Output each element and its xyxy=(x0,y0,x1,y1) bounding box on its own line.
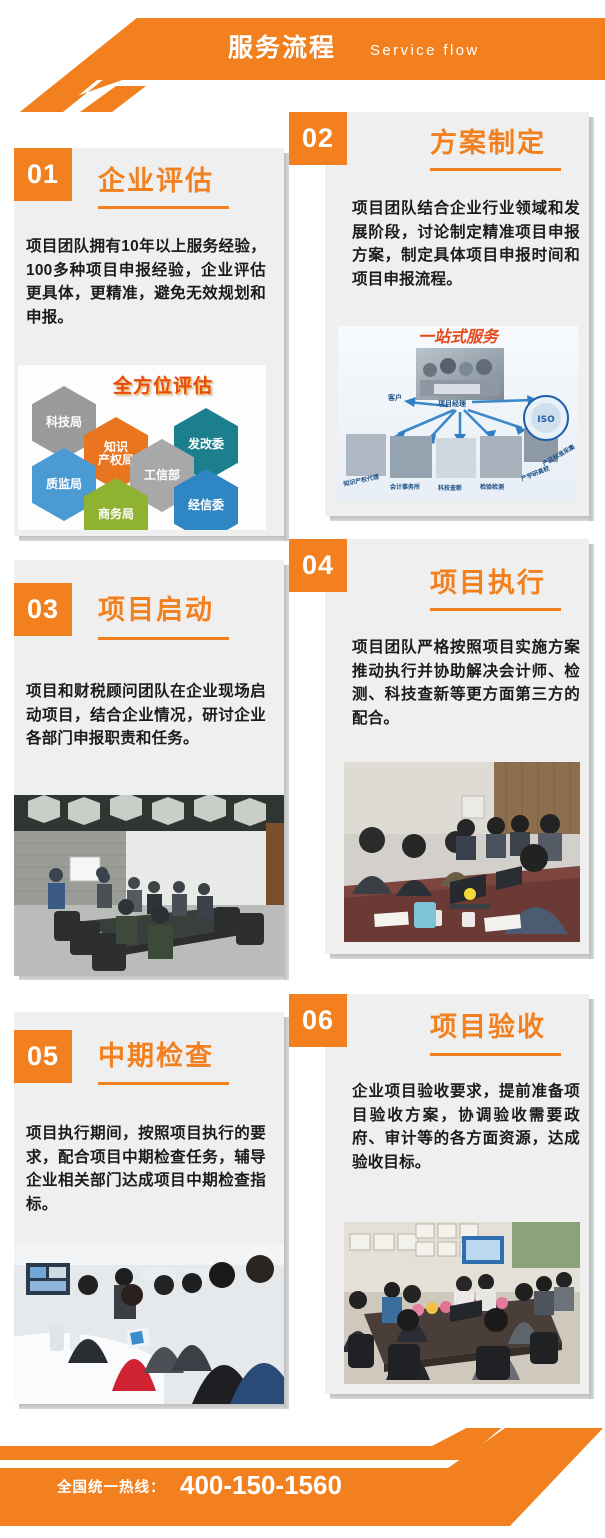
meeting-room-photo-03 xyxy=(14,795,284,976)
hotline-number: 400-150-1560 xyxy=(180,1472,342,1498)
team-working-photo-04 xyxy=(344,762,580,942)
step-title-rule-02 xyxy=(430,168,561,171)
step-number-badge-05: 05 xyxy=(14,1030,72,1083)
header-banner: 服务流程 Service flow xyxy=(0,0,605,110)
svg-text:检验检测: 检验检测 xyxy=(480,483,504,491)
media-photo-03 xyxy=(14,795,284,976)
step-title-rule-01 xyxy=(98,206,229,209)
svg-text:会计事务所: 会计事务所 xyxy=(390,483,420,491)
step-number-badge-01: 01 xyxy=(14,148,72,201)
one-stop-service-title: 一站式服务 xyxy=(418,327,500,346)
step-title-rule-05 xyxy=(98,1082,229,1085)
step-body-03: 项目和财税顾问团队在企业现场启动项目，结合企业情况，研讨企业各部门申报职责和任务… xyxy=(26,680,266,751)
step-title-02: 方案制定 xyxy=(430,130,546,157)
step-title-rule-06 xyxy=(430,1053,561,1056)
step-number-badge-02: 02 xyxy=(289,112,347,165)
step-body-05: 项目执行期间，按照项目执行的要求，配合项目中期检查任务，辅导企业相关部门达成项目… xyxy=(26,1122,266,1216)
media-photo-05 xyxy=(14,1245,284,1404)
svg-text:ISO: ISO xyxy=(537,415,555,425)
svg-text:科技查新: 科技查新 xyxy=(438,484,462,492)
step-number-badge-06: 06 xyxy=(289,994,347,1047)
header-title: 服务流程 xyxy=(228,36,336,61)
step-title-04: 项目执行 xyxy=(430,570,546,597)
step-title-rule-03 xyxy=(98,637,229,640)
step-body-01: 项目团队拥有10年以上服务经验，100多种项目申报经验，企业评估更具体，更精准，… xyxy=(26,235,266,329)
step-number-badge-04: 04 xyxy=(289,539,347,592)
media-photo-04 xyxy=(344,762,580,942)
infographic-page: 服务流程 Service flow 01 企业评估 项目团队拥有10年以上服务经… xyxy=(0,0,605,1538)
step-body-06: 企业项目验收要求，提前准备项目验收方案，协调验收需要政府、审计等的各方面资源，达… xyxy=(352,1080,580,1174)
step-title-05: 中期检查 xyxy=(98,1043,214,1070)
media-photo-06 xyxy=(344,1222,580,1384)
step-body-04: 项目团队严格按照项目实施方案推动执行并协助解决会计师、检测、科技查新等更方面第三… xyxy=(352,636,580,730)
svg-text:项目经理: 项目经理 xyxy=(438,399,466,408)
step-title-06: 项目验收 xyxy=(430,1014,546,1041)
step-body-02: 项目团队结合企业行业领域和发展阶段，讨论制定精准项目申报方案，制定具体项目申报时… xyxy=(352,197,580,291)
header-subtitle: Service flow xyxy=(370,43,480,58)
svg-text:客户: 客户 xyxy=(387,393,402,402)
one-stop-service-illustration: 客户 项目经理 ISO 知识产权代理 会计事务所 科技查新 检验检测 产学研高校 xyxy=(338,326,578,502)
step-number-badge-03: 03 xyxy=(14,583,72,636)
media-hexagon-diagram-01: 全方位评估 科技局 知识产权局 发改委 质监局 工信部 经信委 商务局 xyxy=(18,365,266,530)
acceptance-meeting-photo-06 xyxy=(344,1222,580,1384)
showroom-visit-photo-05 xyxy=(14,1245,284,1404)
media-one-stop-service-02: 客户 项目经理 ISO 知识产权代理 会计事务所 科技查新 检验检测 产学研高校 xyxy=(338,326,578,502)
step-title-01: 企业评估 xyxy=(98,168,214,195)
hexagon-diagram-title: 全方位评估 xyxy=(113,377,213,396)
step-title-rule-04 xyxy=(430,608,561,611)
hotline-label: 全国统一热线： xyxy=(57,1481,166,1496)
step-title-03: 项目启动 xyxy=(98,597,214,624)
